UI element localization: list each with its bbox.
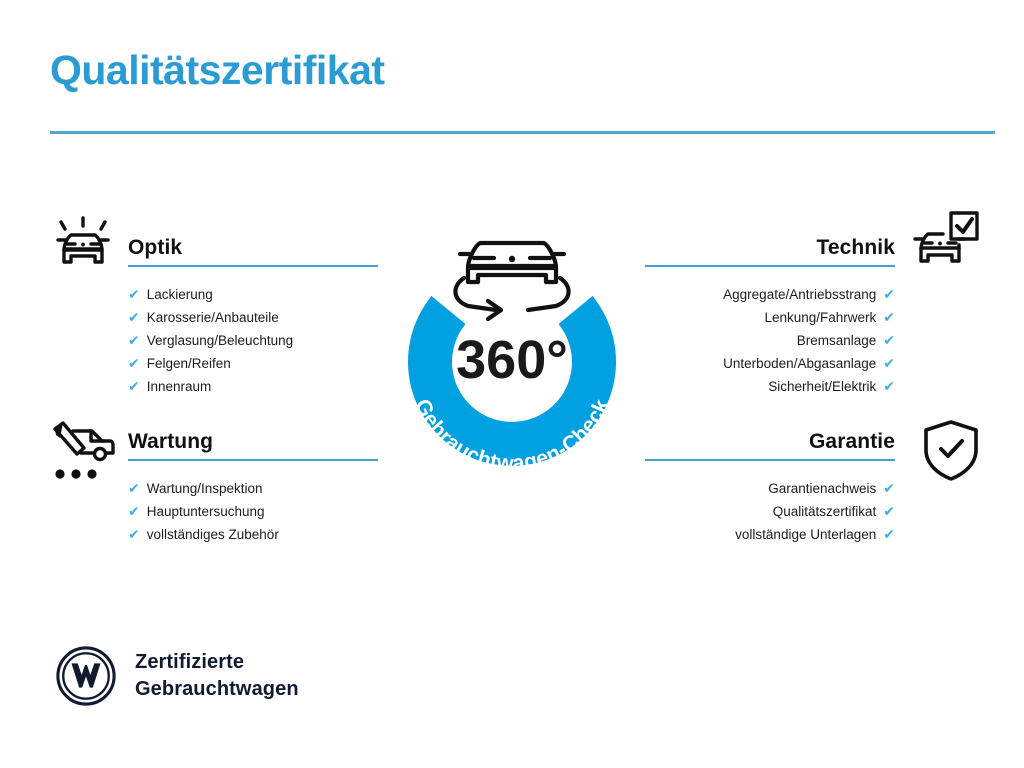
check-icon: ✔ (128, 329, 140, 352)
section-wartung: Wartung ✔ Wartung/Inspektion ✔ Hauptunte… (128, 430, 378, 546)
list-item-label: Garantienachweis (768, 477, 876, 500)
checklist-garantie: Garantienachweis ✔ Qualitätszertifikat ✔… (645, 477, 895, 546)
list-item-label: Unterboden/Abgasanlage (723, 352, 876, 375)
checklist-technik: Aggregate/Antriebsstrang ✔ Lenkung/Fahrw… (645, 283, 895, 398)
badge-center-value: 360° (456, 330, 568, 390)
badge-360-gebrauchtwagen-check: 360° Gebrauchtwagen-Check (368, 196, 656, 496)
list-item-label: Felgen/Reifen (147, 352, 231, 375)
list-item-label: Sicherheit/Elektrik (768, 375, 876, 398)
section-garantie: Garantie Garantienachweis ✔ Qualitätszer… (645, 430, 895, 546)
list-item: vollständige Unterlagen ✔ (645, 523, 895, 546)
list-item: Garantienachweis ✔ (645, 477, 895, 500)
list-item: ✔ Innenraum (128, 375, 378, 398)
check-icon: ✔ (883, 329, 895, 352)
pen-car-service-icon (44, 415, 122, 487)
shield-check-icon (912, 414, 990, 486)
check-icon: ✔ (128, 523, 140, 546)
section-technik: Technik Aggregate/Antriebsstrang ✔ Lenku… (645, 236, 895, 398)
page-title: Qualitätszertifikat (50, 48, 385, 93)
list-item: Aggregate/Antriebsstrang ✔ (645, 283, 895, 306)
list-item-label: Wartung/Inspektion (147, 477, 263, 500)
list-item-label: Lenkung/Fahrwerk (764, 306, 876, 329)
list-item-label: Hauptuntersuchung (147, 500, 265, 523)
check-icon: ✔ (883, 375, 895, 398)
car-rotate-icon (455, 243, 568, 319)
list-item-label: vollständiges Zubehör (147, 523, 279, 546)
check-icon: ✔ (883, 500, 895, 523)
list-item: ✔ Karosserie/Anbauteile (128, 306, 378, 329)
brand-lockup: Zertifizierte Gebrauchtwagen (55, 645, 299, 707)
section-divider-optik (128, 265, 378, 267)
list-item: ✔ vollständiges Zubehör (128, 523, 378, 546)
list-item: Unterboden/Abgasanlage ✔ (645, 352, 895, 375)
list-item: Bremsanlage ✔ (645, 329, 895, 352)
check-icon: ✔ (128, 306, 140, 329)
check-icon: ✔ (128, 477, 140, 500)
section-heading-optik: Optik (128, 236, 378, 260)
list-item-label: Qualitätszertifikat (773, 500, 877, 523)
list-item: ✔ Hauptuntersuchung (128, 500, 378, 523)
list-item-label: vollständige Unterlagen (735, 523, 876, 546)
check-icon: ✔ (128, 500, 140, 523)
list-item-label: Verglasung/Beleuchtung (147, 329, 293, 352)
section-optik: Optik ✔ Lackierung ✔ Karosserie/Anbautei… (128, 236, 378, 398)
title-divider (50, 131, 995, 134)
check-icon: ✔ (883, 523, 895, 546)
certificate-page: Qualitätszertifikat (0, 0, 1024, 768)
list-item: Lenkung/Fahrwerk ✔ (645, 306, 895, 329)
check-icon: ✔ (883, 352, 895, 375)
section-divider-wartung (128, 459, 378, 461)
section-divider-technik (645, 265, 895, 267)
brand-text: Zertifizierte Gebrauchtwagen (135, 649, 299, 703)
car-checkbox-icon (907, 205, 985, 277)
section-divider-garantie (645, 459, 895, 461)
check-icon: ✔ (883, 306, 895, 329)
list-item: ✔ Wartung/Inspektion (128, 477, 378, 500)
check-icon: ✔ (128, 352, 140, 375)
check-icon: ✔ (128, 375, 140, 398)
list-item: Qualitätszertifikat ✔ (645, 500, 895, 523)
list-item-label: Aggregate/Antriebsstrang (723, 283, 876, 306)
list-item: ✔ Felgen/Reifen (128, 352, 378, 375)
list-item-label: Bremsanlage (797, 329, 877, 352)
section-heading-technik: Technik (645, 236, 895, 260)
check-icon: ✔ (128, 283, 140, 306)
section-heading-garantie: Garantie (645, 430, 895, 454)
checklist-optik: ✔ Lackierung ✔ Karosserie/Anbauteile ✔ V… (128, 283, 378, 398)
check-icon: ✔ (883, 283, 895, 306)
list-item-label: Lackierung (147, 283, 213, 306)
section-heading-wartung: Wartung (128, 430, 378, 454)
vw-logo-icon (55, 645, 117, 707)
check-icon: ✔ (883, 477, 895, 500)
brand-line-1: Zertifizierte (135, 649, 299, 676)
list-item-label: Innenraum (147, 375, 212, 398)
list-item-label: Karosserie/Anbauteile (147, 306, 279, 329)
checklist-wartung: ✔ Wartung/Inspektion ✔ Hauptuntersuchung… (128, 477, 378, 546)
brand-line-2: Gebrauchtwagen (135, 676, 299, 703)
list-item: ✔ Verglasung/Beleuchtung (128, 329, 378, 352)
list-item: ✔ Lackierung (128, 283, 378, 306)
car-shine-icon (44, 206, 122, 278)
list-item: Sicherheit/Elektrik ✔ (645, 375, 895, 398)
